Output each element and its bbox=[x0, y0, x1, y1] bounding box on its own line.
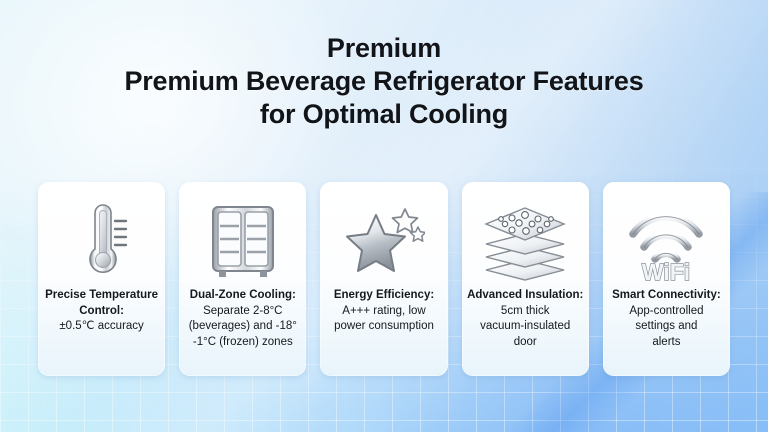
dual-zone-refrigerator-icon bbox=[179, 196, 306, 288]
wifi-icon: WiFi bbox=[603, 196, 730, 288]
wifi-icon-label: WiFi bbox=[642, 259, 690, 284]
card-heading-line: Control: bbox=[42, 304, 161, 320]
card-heading-line: Advanced Insulation: bbox=[466, 288, 585, 304]
card-body-line: settings and bbox=[607, 319, 726, 335]
card-heading-line: Precise Temperature bbox=[42, 288, 161, 304]
feature-card-precise-temperature[interactable]: Precise Temperature Control: ±0.5℃ accur… bbox=[38, 182, 165, 376]
insulation-layers-icon bbox=[462, 196, 589, 288]
star-icon bbox=[320, 196, 447, 288]
card-body-line: alerts bbox=[607, 335, 726, 351]
card-body-line: vacuum-insulated bbox=[466, 319, 585, 335]
feature-card-smart-connectivity[interactable]: WiFi Smart Connectivity: App-controlled … bbox=[603, 182, 730, 376]
card-heading-line: Dual-Zone Cooling: bbox=[183, 288, 302, 304]
card-heading-line: Energy Efficiency: bbox=[324, 288, 443, 304]
feature-card-row: Precise Temperature Control: ±0.5℃ accur… bbox=[38, 182, 730, 376]
feature-card-text: Energy Efficiency: A+++ rating, low powe… bbox=[320, 288, 447, 335]
feature-card-advanced-insulation[interactable]: Advanced Insulation: 5cm thick vacuum-in… bbox=[462, 182, 589, 376]
card-body-line: power consumption bbox=[324, 319, 443, 335]
feature-card-text: Precise Temperature Control: ±0.5℃ accur… bbox=[38, 288, 165, 335]
title-line-2: Premium Beverage Refrigerator Features bbox=[0, 65, 768, 98]
card-body-line: door bbox=[466, 335, 585, 351]
feature-card-text: Smart Connectivity: App-controlled setti… bbox=[603, 288, 730, 350]
feature-card-text: Dual-Zone Cooling: Separate 2-8°C (bever… bbox=[179, 288, 306, 350]
card-body-line: -1°C (frozen) zones bbox=[183, 335, 302, 351]
card-body-line: 5cm thick bbox=[466, 304, 585, 320]
feature-card-dual-zone-cooling[interactable]: Dual-Zone Cooling: Separate 2-8°C (bever… bbox=[179, 182, 306, 376]
card-heading-line: Smart Connectivity: bbox=[607, 288, 726, 304]
slide-title: Premium Premium Beverage Refrigerator Fe… bbox=[0, 32, 768, 131]
title-line-1: Premium bbox=[0, 32, 768, 65]
feature-card-text: Advanced Insulation: 5cm thick vacuum-in… bbox=[462, 288, 589, 350]
card-body-line: Separate 2-8°C bbox=[183, 304, 302, 320]
card-body-line: A+++ rating, low bbox=[324, 304, 443, 320]
card-body-line: (beverages) and -18° bbox=[183, 319, 302, 335]
card-body-line: ±0.5℃ accuracy bbox=[42, 319, 161, 335]
card-body-line: App-controlled bbox=[607, 304, 726, 320]
title-line-3: for Optimal Cooling bbox=[0, 98, 768, 131]
feature-card-energy-efficiency[interactable]: Energy Efficiency: A+++ rating, low powe… bbox=[320, 182, 447, 376]
thermometer-icon bbox=[38, 196, 165, 288]
